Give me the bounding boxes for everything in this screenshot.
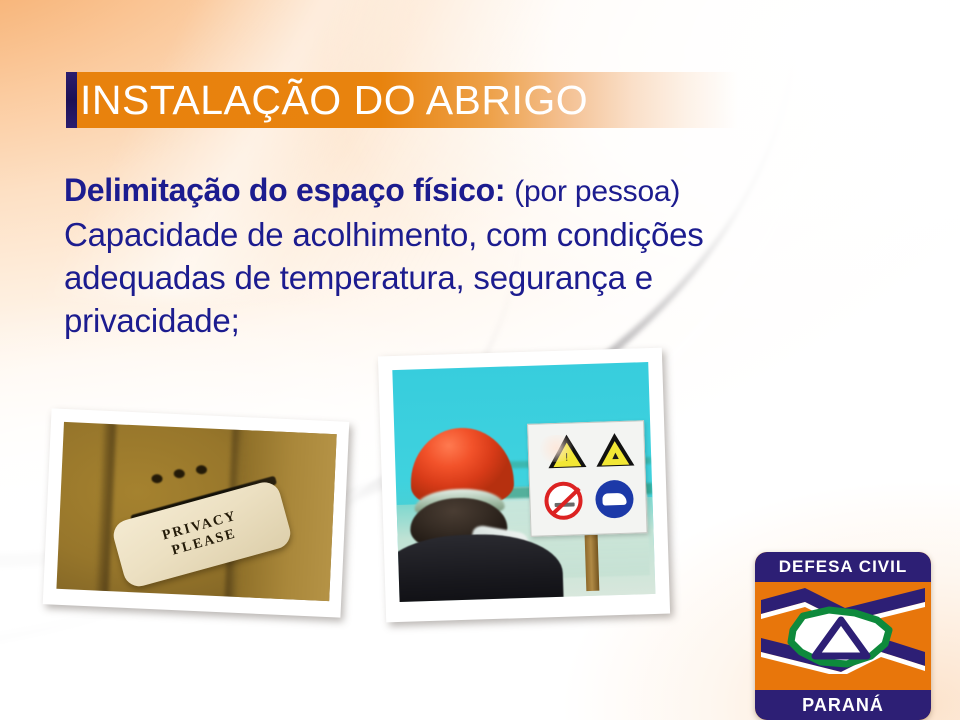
signboard-post: [584, 531, 599, 592]
body-text: Delimitação do espaço físico: (por pesso…: [64, 168, 944, 342]
door-hole-2: [174, 469, 185, 478]
lead-strong-text: Delimitação do espaço físico:: [64, 172, 505, 208]
body-line-3: adequadas de temperatura, segurança e: [64, 256, 944, 299]
body-line-4: privacidade;: [64, 299, 944, 342]
door-hole-1: [151, 474, 162, 483]
title-accent-bar: [66, 72, 77, 128]
body-line-1: Delimitação do espaço físico: (por pesso…: [64, 168, 944, 213]
no-smoking-icon: [544, 481, 583, 520]
boot-glyph: [602, 493, 626, 506]
door-edge-left: [94, 422, 116, 601]
photo-privacy-image: PRIVACY PLEASE: [56, 422, 336, 601]
logo-body: DEFESA CIVIL PARANÁ: [755, 552, 931, 720]
page-title: INSTALAÇÃO DO ABRIGO: [80, 72, 760, 128]
cigarette-glyph: [555, 502, 575, 507]
logo-bottom-banner: PARANÁ: [755, 690, 931, 720]
photo-privacy-door-sign: PRIVACY PLEASE: [43, 408, 350, 617]
body-line-2: Capacidade de acolhimento, com condições: [64, 213, 944, 256]
door-hole-3: [196, 465, 207, 474]
defesa-civil-parana-logo: DEFESA CIVIL PARANÁ: [755, 552, 931, 720]
flammable-triangle-icon: ▲: [595, 433, 634, 467]
safety-boots-icon: [595, 479, 634, 518]
logo-parana-map-emblem: [785, 604, 901, 672]
flame-glyph: ▲: [610, 449, 620, 463]
photo-worker-safety-signboard: ! ▲: [378, 348, 670, 623]
slide: INSTALAÇÃO DO ABRIGO Delimitação do espa…: [0, 0, 960, 720]
photo-safety-image: ! ▲: [392, 362, 655, 602]
logo-top-banner: DEFESA CIVIL: [755, 552, 931, 582]
lead-paren-text: (por pessoa): [514, 175, 680, 208]
